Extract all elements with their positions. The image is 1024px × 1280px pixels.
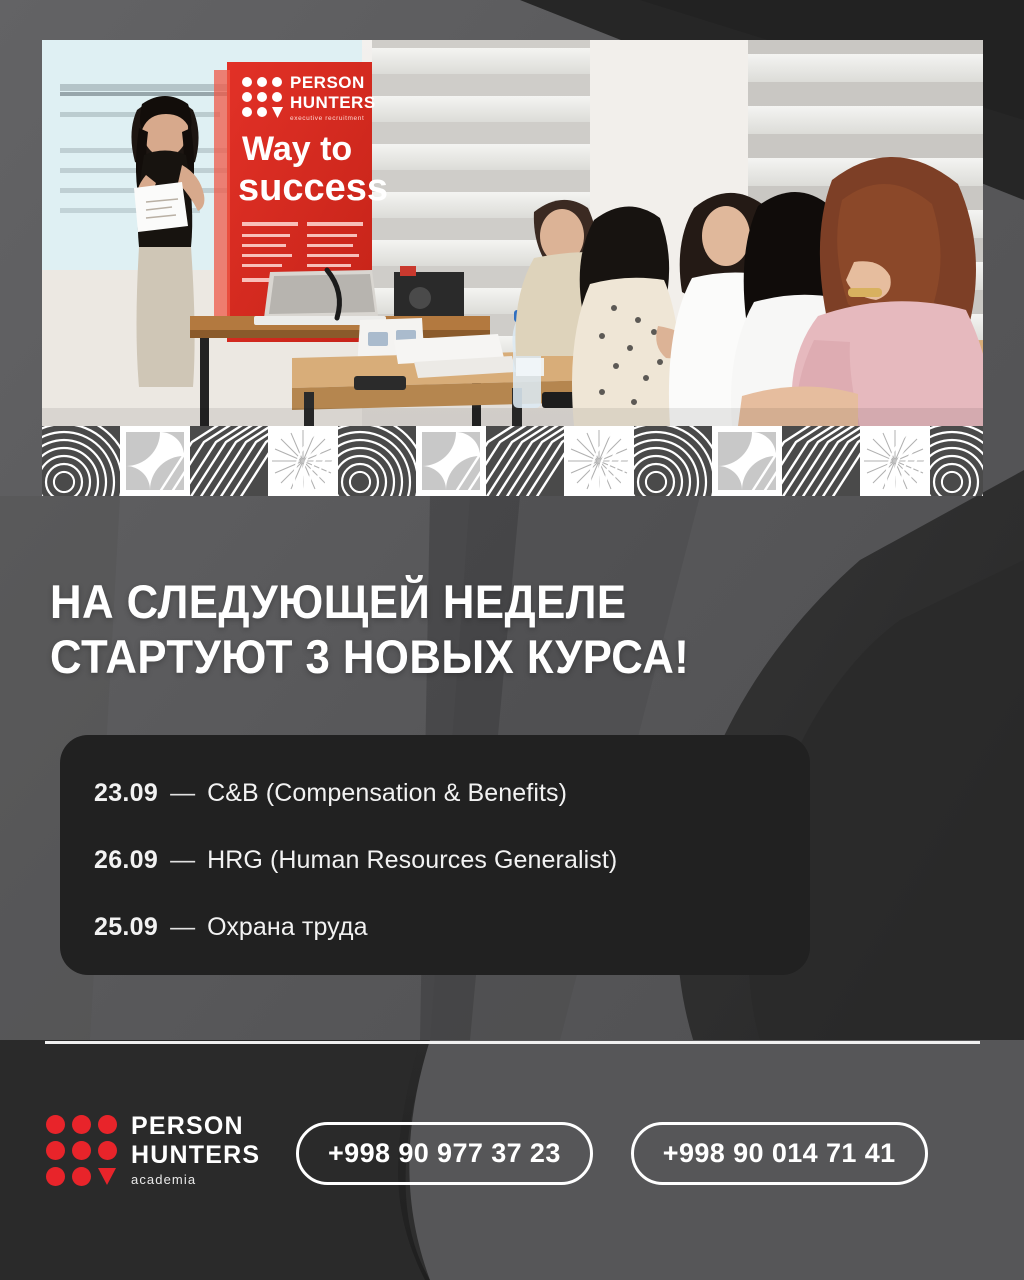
list-item: 26.09 — HRG (Human Resources Generalist) xyxy=(94,846,810,875)
brand-logo: PERSON HUNTERS academia xyxy=(46,1114,260,1186)
course-date: 26.09 xyxy=(94,846,158,875)
footer: PERSON HUNTERS academia +998 90 977 37 2… xyxy=(0,1108,1024,1208)
event-photo: PERSON HUNTERS executive recruitment Way… xyxy=(42,40,983,426)
logo-dot xyxy=(72,1141,91,1160)
course-title: Охрана труда xyxy=(207,913,368,942)
logo-dot xyxy=(72,1115,91,1134)
course-date: 23.09 xyxy=(94,779,158,808)
brand-name-line-2: HUNTERS xyxy=(131,1143,260,1168)
contact-phone-group: +998 90 977 37 23 +998 90 014 71 41 xyxy=(296,1122,928,1185)
course-title: HRG (Human Resources Generalist) xyxy=(207,846,617,875)
logo-dot xyxy=(98,1141,117,1160)
logo-dot xyxy=(46,1141,65,1160)
svg-text:executive recruitment: executive recruitment xyxy=(290,115,364,122)
headline-line-1: НА СЛЕДУЮЩЕЙ НЕДЕЛЕ xyxy=(50,575,868,630)
logo-dot xyxy=(98,1115,117,1134)
svg-text:success: success xyxy=(238,167,388,209)
phone-button-2[interactable]: +998 90 014 71 41 xyxy=(631,1122,928,1185)
course-list-card: 23.09 — C&B (Compensation & Benefits) 26… xyxy=(60,735,810,975)
course-date: 25.09 xyxy=(94,913,158,942)
course-dash: — xyxy=(170,779,195,808)
logo-dot xyxy=(46,1167,65,1186)
svg-text:HUNTERS: HUNTERS xyxy=(290,93,376,112)
phone-button-1[interactable]: +998 90 977 37 23 xyxy=(296,1122,593,1185)
course-dash: — xyxy=(170,846,195,875)
svg-text:PERSON: PERSON xyxy=(290,73,365,92)
headline-line-2: СТАРТУЮТ 3 НОВЫХ КУРСА! xyxy=(50,630,868,685)
list-item: 25.09 — Охрана труда xyxy=(94,913,810,942)
brand-name: PERSON HUNTERS academia xyxy=(131,1114,260,1186)
brand-name-line-1: PERSON xyxy=(131,1114,260,1139)
svg-text:Way to: Way to xyxy=(242,130,352,168)
course-title: C&B (Compensation & Benefits) xyxy=(207,779,567,808)
course-dash: — xyxy=(170,913,195,942)
logo-triangle-icon xyxy=(98,1168,116,1185)
logo-dot xyxy=(72,1167,91,1186)
logo-dot xyxy=(46,1115,65,1134)
decorative-pattern-strip xyxy=(42,426,983,496)
list-item: 23.09 — C&B (Compensation & Benefits) xyxy=(94,779,810,808)
brand-tagline: academia xyxy=(131,1173,260,1186)
logo-dots-icon xyxy=(46,1115,117,1186)
footer-divider xyxy=(45,1041,980,1044)
page-title: НА СЛЕДУЮЩЕЙ НЕДЕЛЕ СТАРТУЮТ 3 НОВЫХ КУР… xyxy=(50,575,868,684)
